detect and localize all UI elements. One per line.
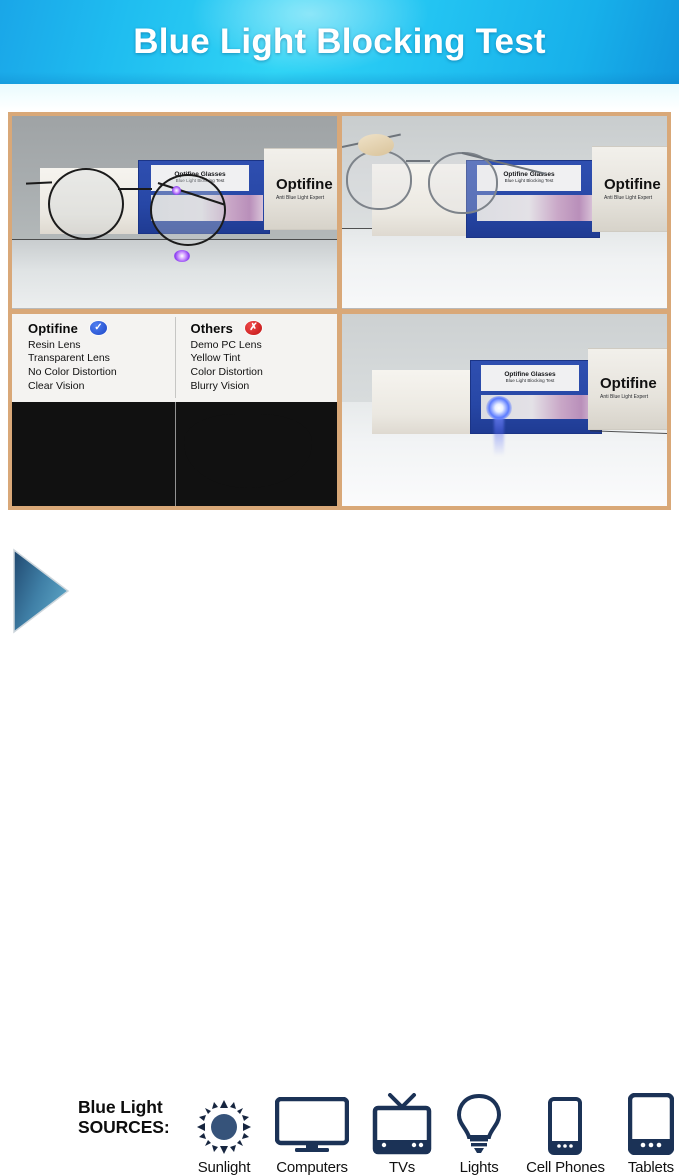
sources-title-line2: SOURCES: xyxy=(78,1118,198,1138)
phone-icon xyxy=(548,1093,582,1155)
uv-dot-through-lens xyxy=(172,186,181,195)
panel-uv-light-on-box: Optifine Glasses Blue Light Blocking Tes… xyxy=(342,314,667,507)
source-label: Lights xyxy=(460,1159,499,1176)
panel-glasses-on-box: Optifine Glasses Blue Light Blocking Tes… xyxy=(342,116,667,309)
product-box-front: Optifine Glasses Blue Light Blocking Tes… xyxy=(470,360,602,434)
comparison-board: Optifine ✓ Resin Lens Transparent Lens N… xyxy=(12,314,337,507)
comparison-heading-right: Others ✗ xyxy=(191,321,338,336)
lightbulb-icon xyxy=(455,1093,503,1155)
list-item: Blurry Vision xyxy=(191,380,338,394)
frame-lens-right xyxy=(184,414,312,488)
others-feature-list: Demo PC Lens Yellow Tint Color Distortio… xyxy=(191,339,338,394)
comparison-seam xyxy=(175,402,176,506)
source-item-cell-phones: Cell Phones xyxy=(526,1093,605,1176)
header-banner: Blue Light Blocking Test xyxy=(0,0,679,84)
source-item-lights: Lights xyxy=(455,1093,503,1176)
list-item: Yellow Tint xyxy=(191,352,338,366)
source-label: Tablets xyxy=(628,1159,674,1176)
sun-icon xyxy=(196,1093,252,1155)
sources-icon-row: Sunlight Computers xyxy=(196,1072,674,1176)
x-icon: ✗ xyxy=(245,321,262,335)
source-label: Sunlight xyxy=(198,1159,251,1176)
optifine-title: Optifine xyxy=(28,321,78,336)
sources-title-line1: Blue Light xyxy=(78,1098,198,1118)
uv-light-source xyxy=(486,396,512,420)
brand-side-panel: Optifine Anti Blue Light Expert xyxy=(594,352,667,424)
comparison-column-optifine: Optifine ✓ Resin Lens Transparent Lens N… xyxy=(12,314,175,403)
lens-left xyxy=(346,150,412,210)
others-title: Others xyxy=(191,321,234,336)
lens-view-photo xyxy=(12,402,337,506)
photo-desk xyxy=(12,239,337,308)
frame-top-bar xyxy=(26,402,326,411)
source-label: TVs xyxy=(389,1159,415,1176)
blue-light-sources-section: Blue Light SOURCES: xyxy=(0,516,679,664)
source-item-computers: Computers xyxy=(275,1093,349,1176)
brand-side-panel: Optifine Anti Blue Light Expert xyxy=(598,150,667,226)
list-item: Demo PC Lens xyxy=(191,339,338,353)
lens-right xyxy=(428,152,498,214)
frame-lens-left xyxy=(36,414,164,488)
nose-pad-highlight xyxy=(358,134,394,156)
banner-underglow xyxy=(0,84,679,110)
uv-dot-reflection xyxy=(174,250,190,262)
list-item: Clear Vision xyxy=(28,380,175,394)
source-item-sunlight: Sunlight xyxy=(196,1093,252,1176)
comparison-text-area: Optifine ✓ Resin Lens Transparent Lens N… xyxy=(12,314,337,403)
box-window xyxy=(477,195,593,221)
bridge xyxy=(118,188,152,190)
source-label: Cell Phones xyxy=(526,1159,605,1176)
page-title: Blue Light Blocking Test xyxy=(133,22,546,62)
lens-left xyxy=(48,168,124,240)
monitor-icon xyxy=(275,1093,349,1155)
list-item: Resin Lens xyxy=(28,339,175,353)
sources-title: Blue Light SOURCES: xyxy=(78,1098,198,1138)
panel-lens-comparison: Optifine ✓ Resin Lens Transparent Lens N… xyxy=(12,314,337,507)
list-item: Transparent Lens xyxy=(28,352,175,366)
list-item: No Color Distortion xyxy=(28,366,175,380)
bridge xyxy=(406,160,430,162)
source-item-tvs: TVs xyxy=(372,1093,432,1176)
source-label: Computers xyxy=(276,1159,348,1176)
panel-uv-test-blocked: Optifine Glasses Blue Light Blocking Tes… xyxy=(12,116,337,309)
tv-icon xyxy=(372,1093,432,1155)
list-item: Color Distortion xyxy=(191,366,338,380)
product-box-side xyxy=(372,370,477,434)
photo-grid: Optifine Glasses Blue Light Blocking Tes… xyxy=(8,112,671,510)
brand-side-panel: Optifine Anti Blue Light Expert xyxy=(270,152,337,224)
box-label: Optifine Glasses Blue Light Blocking Tes… xyxy=(481,365,579,391)
comparison-heading-left: Optifine ✓ xyxy=(28,321,175,336)
comparison-column-others: Others ✗ Demo PC Lens Yellow Tint Color … xyxy=(175,314,338,403)
optifine-feature-list: Resin Lens Transparent Lens No Color Dis… xyxy=(28,339,175,394)
photo-desk xyxy=(342,228,667,309)
tablet-icon xyxy=(628,1093,674,1155)
source-item-tablets: Tablets xyxy=(628,1093,674,1176)
check-icon: ✓ xyxy=(90,321,107,335)
